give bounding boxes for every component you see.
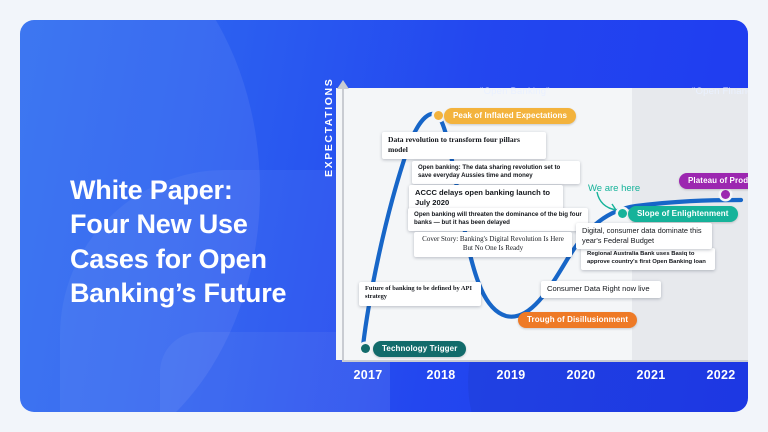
headline-card-5[interactable]: Cover Story: Banking's Digital Revolutio… [414, 232, 572, 257]
x-tick-2019: 2019 [496, 368, 525, 382]
title-line-2: Four New Use [70, 207, 320, 241]
headline-card-6[interactable]: Future of banking to be defined by API s… [359, 282, 481, 306]
headline-card-1[interactable]: Data revolution to transform four pillar… [382, 132, 546, 159]
stage-label-trough-of-disillusionment[interactable]: Trough of Disillusionment [518, 312, 637, 328]
stage-dot-technology-trigger[interactable] [361, 344, 370, 353]
headline-card-9[interactable]: Digital, consumer data dominate this yea… [576, 223, 712, 249]
headline-card-2[interactable]: Open banking: The data sharing revolutio… [412, 161, 580, 184]
stage-label-slope-of-enlightenment[interactable]: Slope of Enlightenment [628, 206, 738, 222]
headline-card-7[interactable]: Consumer Data Right now live [541, 281, 661, 298]
x-tick-2017: 2017 [353, 368, 382, 382]
x-axis-ticks: 2017 2018 2019 2020 2021 2022 [336, 368, 748, 390]
stage-label-peak-of-inflated-expectations[interactable]: Peak of Inflated Expectations [444, 108, 576, 124]
headline-card-8[interactable]: Regional Australia Bank uses Basiq to ap… [581, 248, 715, 270]
stage-label-technology-trigger[interactable]: Technology Trigger [373, 341, 466, 357]
stage-label-plateau-of-productivity[interactable]: Plateau of Productivity [679, 173, 748, 189]
x-tick-2021: 2021 [636, 368, 665, 382]
headline-card-4[interactable]: Open banking will threaten the dominance… [408, 208, 588, 231]
x-tick-2020: 2020 [566, 368, 595, 382]
x-tick-2022: 2022 [706, 368, 735, 382]
title-line-1: White Paper: [70, 173, 320, 207]
title-line-3: Cases for Open [70, 242, 320, 276]
title-line-4: Banking’s Future [70, 276, 320, 310]
slide-canvas: White Paper: Four New Use Cases for Open… [20, 20, 748, 412]
stage-dot-peak-of-inflated-expectations[interactable] [434, 111, 443, 120]
x-tick-2018: 2018 [426, 368, 455, 382]
stage-dot-slope-of-enlightenment[interactable] [618, 209, 627, 218]
we-are-here-annotation: We are here [588, 183, 640, 194]
stage-dot-plateau-of-productivity[interactable] [721, 190, 730, 199]
y-axis-label: EXPECTATIONS [323, 78, 335, 177]
page-title: White Paper: Four New Use Cases for Open… [70, 173, 320, 310]
